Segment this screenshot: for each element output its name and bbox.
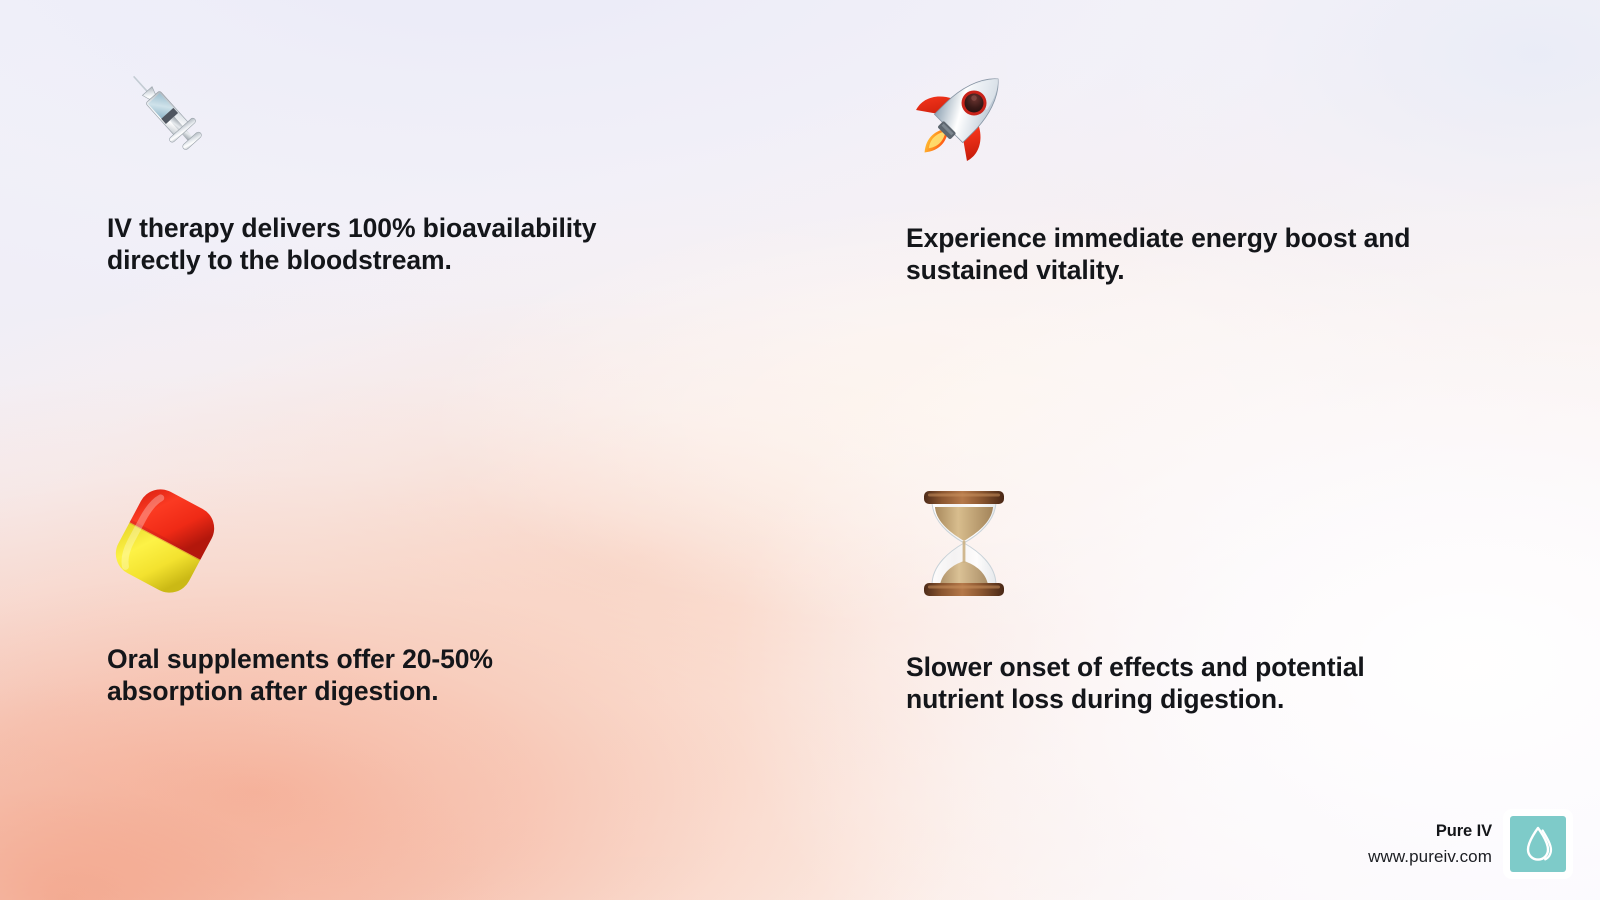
caption-text: Experience immediate energy boost and su… [906, 222, 1486, 287]
cell-energy-boost: Experience immediate energy boost and su… [906, 60, 1546, 287]
caption-text: Slower onset of effects and potential nu… [906, 651, 1446, 716]
syringe-icon [115, 60, 215, 160]
water-drop-icon [1520, 824, 1556, 864]
rocket-icon-wrap [906, 60, 1546, 170]
pill-icon [111, 487, 219, 595]
pill-icon-wrap [111, 487, 787, 595]
brand-url[interactable]: www.pureiv.com [1368, 846, 1492, 868]
brand-lockup: Pure IV www.pureiv.com [1368, 816, 1566, 872]
rocket-icon [906, 60, 1018, 170]
infographic-canvas: IV therapy delivers 100% bioavailability… [0, 0, 1600, 900]
brand-logo [1510, 816, 1566, 872]
cell-slower-onset: Slower onset of effects and potential nu… [906, 487, 1546, 716]
caption-text: Oral supplements offer 20-50% absorption… [107, 643, 577, 708]
hourglass-icon-wrap [916, 487, 1546, 603]
cell-iv-bioavailability: IV therapy delivers 100% bioavailability… [107, 60, 787, 277]
cell-oral-absorption: Oral supplements offer 20-50% absorption… [107, 487, 787, 708]
brand-text: Pure IV www.pureiv.com [1368, 821, 1492, 868]
hourglass-icon [916, 487, 1012, 603]
caption-text: IV therapy delivers 100% bioavailability… [107, 212, 687, 277]
comparison-grid: IV therapy delivers 100% bioavailability… [0, 0, 1600, 900]
brand-name: Pure IV [1368, 821, 1492, 842]
syringe-icon-wrap [115, 60, 787, 160]
